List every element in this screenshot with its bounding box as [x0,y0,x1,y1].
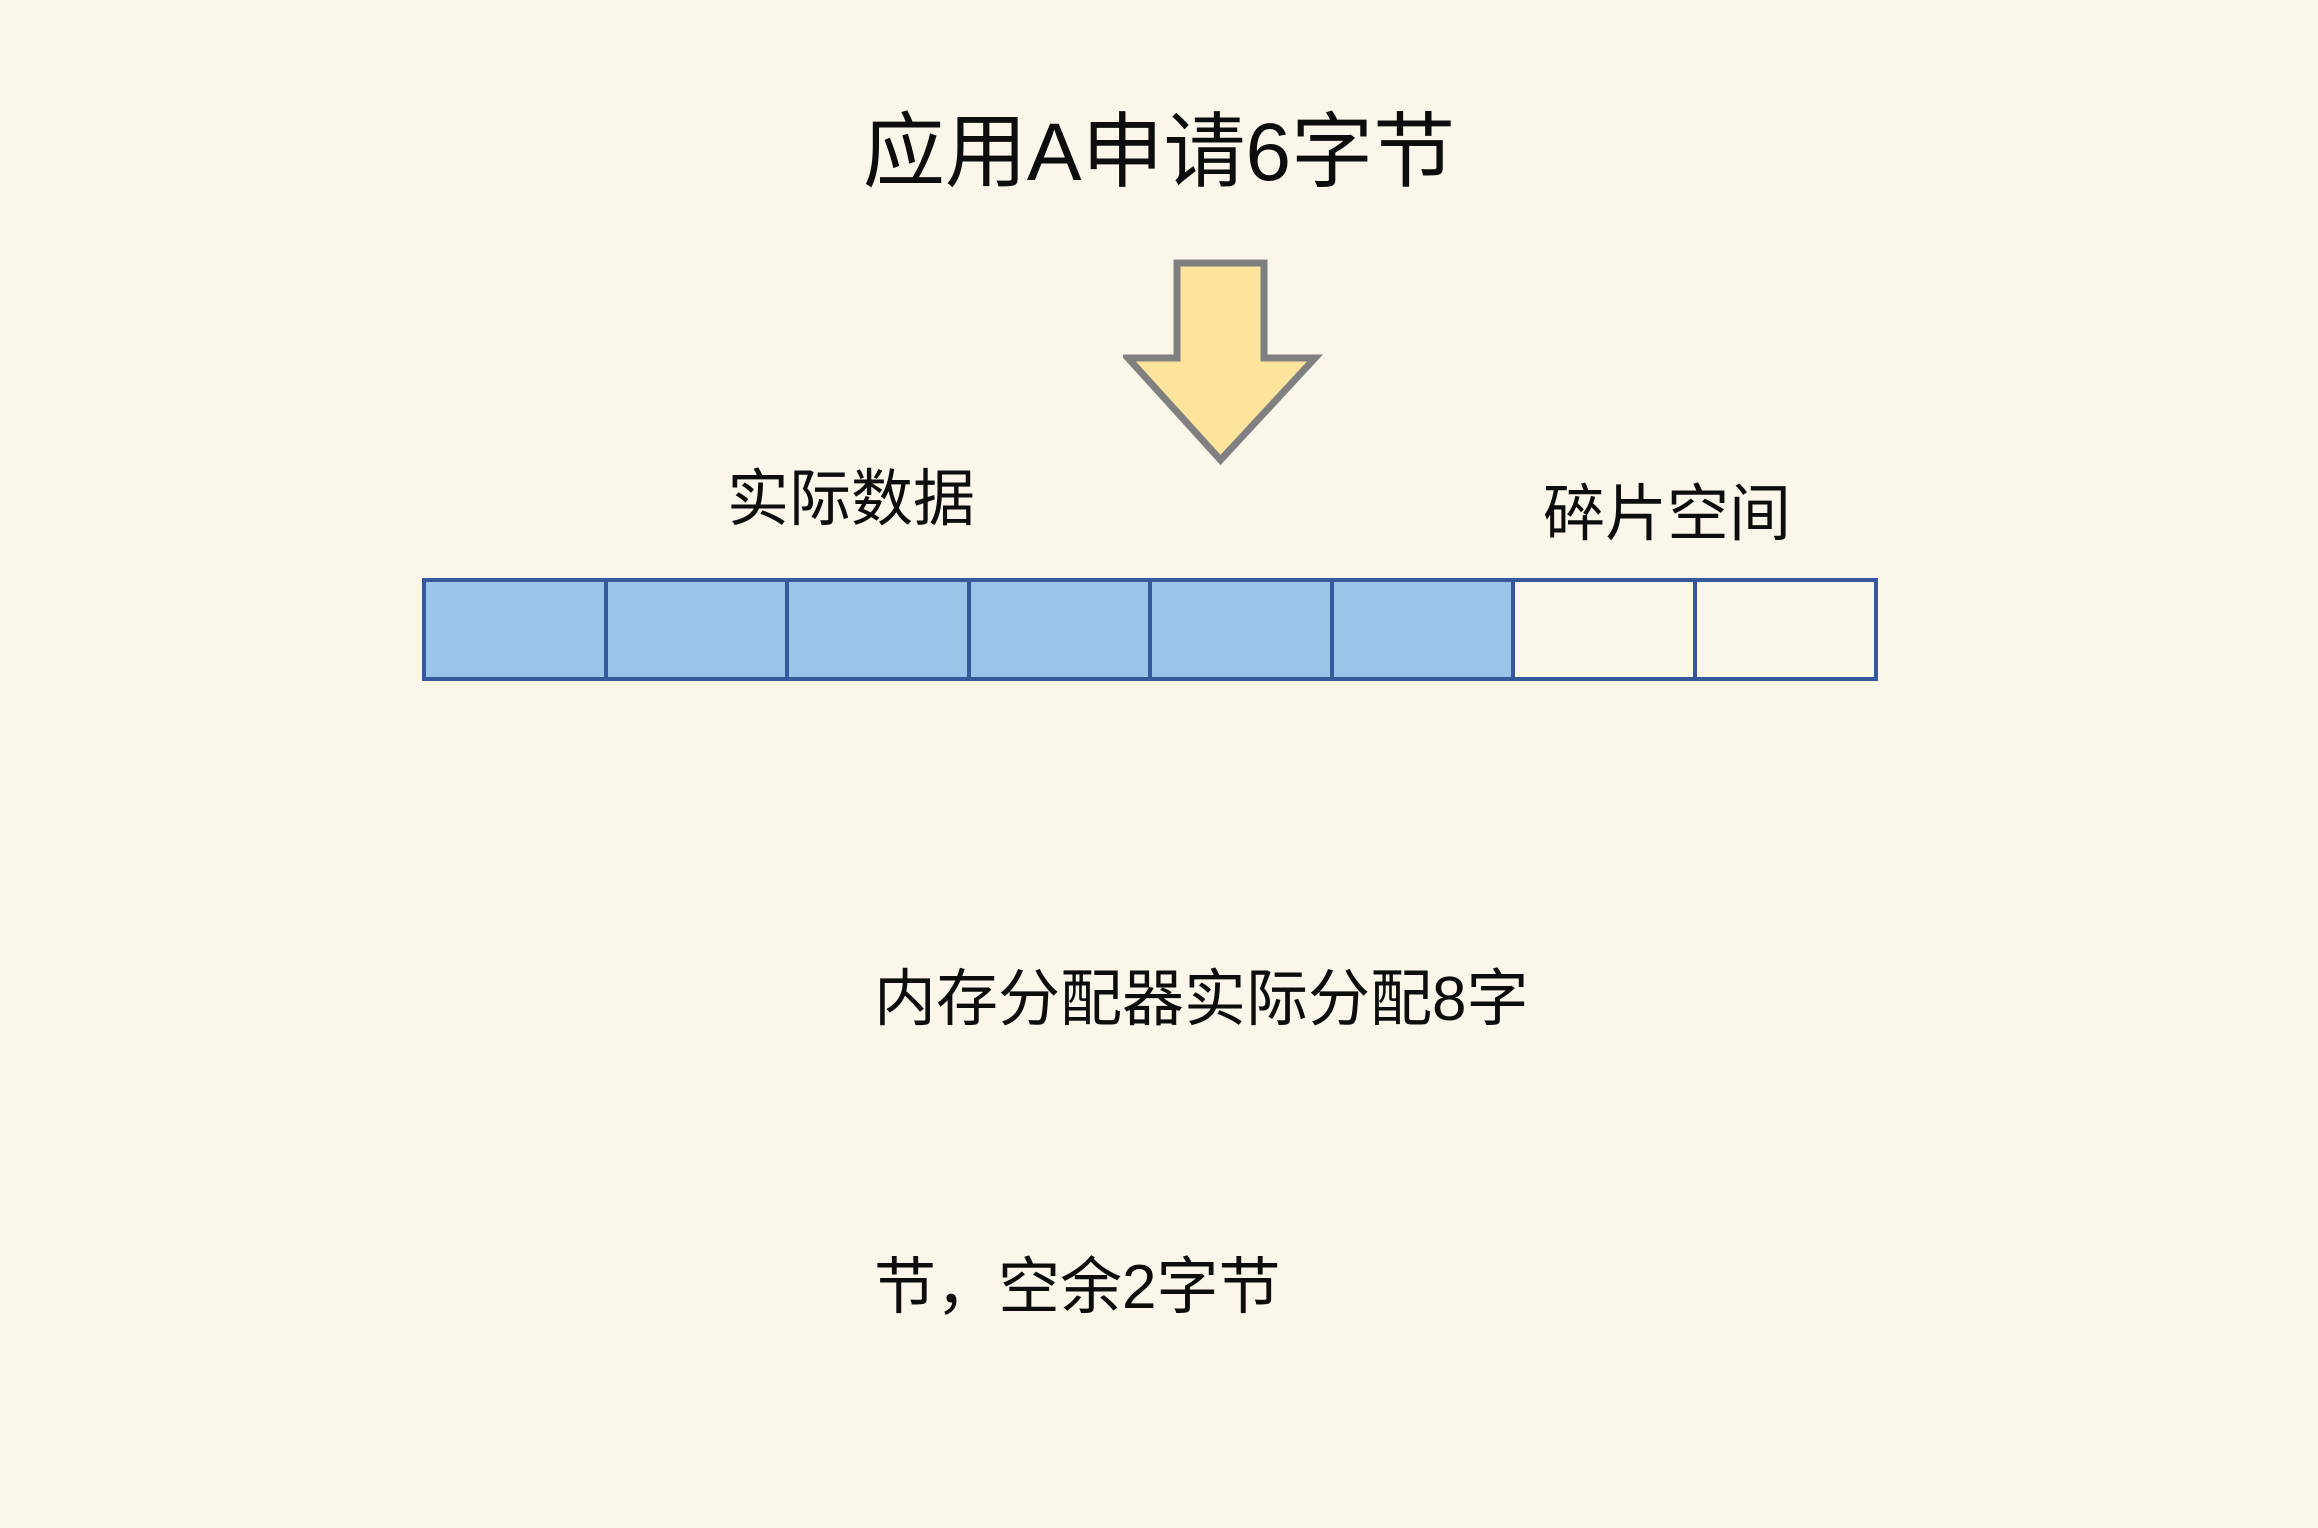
bottom-note: 内存分配器实际分配8字 节，空余2字节 [874,760,1528,1528]
bottom-note-line-1: 内存分配器实际分配8字 [874,952,1528,1048]
bottom-note-line-2: 节，空余2字节 [874,1240,1528,1336]
page-title: 应用A申请6字节 [0,103,2318,203]
memory-cell [1693,578,1879,681]
memory-cell [604,578,790,681]
memory-bar [422,578,1878,681]
label-fragment-space: 碎片空间 [1543,477,1791,553]
memory-cell [785,578,971,681]
arrow-down-icon [1123,258,1323,466]
memory-cell [1330,578,1516,681]
diagram-canvas: 应用A申请6字节 实际数据 碎片空间 内存分配器实际分配8字 节，空余2字节 [0,0,2318,1031]
arrow-down-shape [1128,263,1315,460]
label-actual-data: 实际数据 [727,462,975,538]
memory-cell [967,578,1153,681]
memory-cell [1148,578,1334,681]
memory-cell [1511,578,1697,681]
memory-cell [422,578,608,681]
